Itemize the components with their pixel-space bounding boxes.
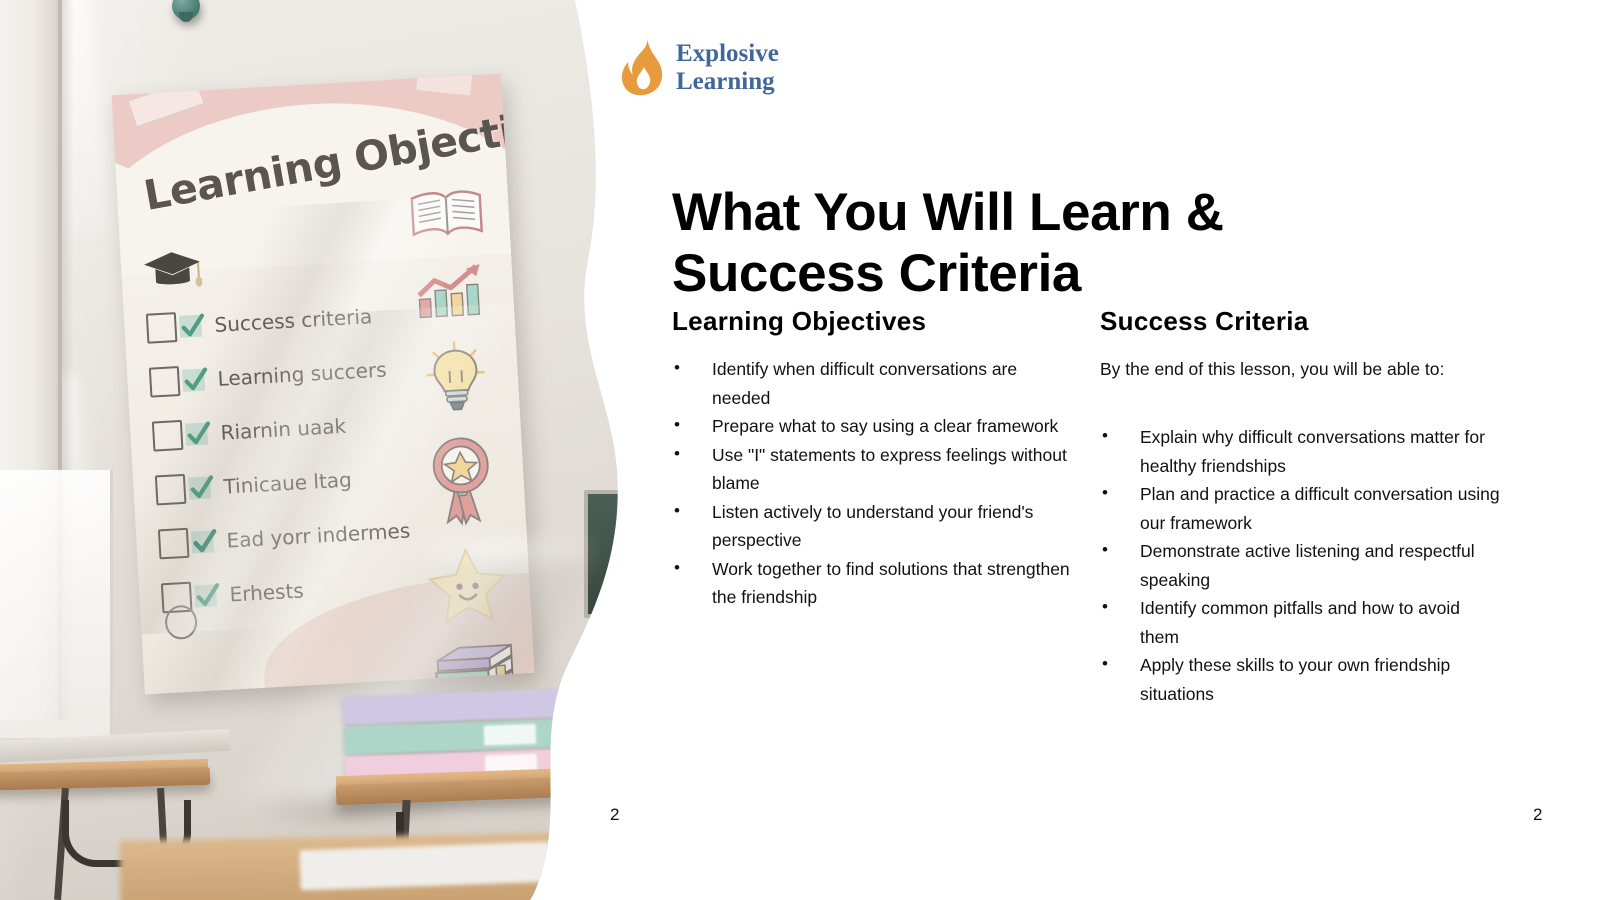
check-icon xyxy=(188,474,215,501)
list-item: Identify common pitfalls and how to avoi… xyxy=(1100,594,1500,651)
window-pane xyxy=(0,470,113,738)
list-item: Identify when difficult conversations ar… xyxy=(672,355,1072,412)
success-criteria-list: Explain why difficult conversations matt… xyxy=(1100,423,1500,708)
check-icon xyxy=(182,366,209,393)
checklist-label: Tinicaue ltag xyxy=(223,468,352,499)
list-item: Use "I" statements to express feelings w… xyxy=(672,441,1072,498)
checklist-label: Riarnin uaak xyxy=(220,414,347,445)
page-number-right: 2 xyxy=(1533,805,1542,825)
lightbulb-sticker xyxy=(414,338,504,420)
checklist-label: Learning succers xyxy=(217,357,387,390)
checklist-label: Success criteria xyxy=(214,304,373,337)
success-criteria-intro: By the end of this lesson, you will be a… xyxy=(1100,355,1500,383)
page-title: What You Will Learn & Success Criteria xyxy=(672,182,1432,305)
brand-name-line2: Learning xyxy=(676,68,779,96)
checkbox-icon xyxy=(146,312,178,344)
list-item: Apply these skills to your own friendshi… xyxy=(1100,651,1500,708)
list-item: Work together to find solutions that str… xyxy=(672,555,1072,612)
learning-objectives-heading: Learning Objectives xyxy=(672,306,1072,337)
checkbox-icon xyxy=(149,366,181,398)
checkbox-icon xyxy=(158,528,190,560)
open-book-sticker xyxy=(405,184,494,250)
learning-objectives-column: Learning Objectives Identify when diffic… xyxy=(672,306,1072,612)
brand-name-line1: Explosive xyxy=(676,40,779,67)
check-icon xyxy=(179,312,206,339)
brand-logo[interactable]: Explosive Learning xyxy=(620,34,779,101)
graduation-cap-icon xyxy=(142,249,202,292)
award-ribbon-sticker xyxy=(419,431,510,533)
growth-chart-sticker xyxy=(410,261,499,327)
checkbox-icon xyxy=(152,420,184,452)
page-number-left: 2 xyxy=(610,805,619,825)
learning-objectives-list: Identify when difficult conversations ar… xyxy=(672,355,1072,612)
flame-icon xyxy=(620,34,666,101)
checkbox-icon xyxy=(155,474,187,506)
classroom-photo: Learning Objectives Success criteria xyxy=(0,0,640,900)
check-icon xyxy=(185,420,212,447)
list-item: Prepare what to say using a clear framew… xyxy=(672,412,1072,441)
brand-name: Explosive Learning xyxy=(676,40,779,96)
slide: Learning Objectives Success criteria xyxy=(0,0,1600,900)
success-criteria-heading: Success Criteria xyxy=(1100,306,1500,337)
list-item: Explain why difficult conversations matt… xyxy=(1100,423,1500,480)
list-item: Listen actively to understand your frien… xyxy=(672,498,1072,555)
list-item: Plan and practice a difficult conversati… xyxy=(1100,480,1500,537)
list-item: Demonstrate active listening and respect… xyxy=(1100,537,1500,594)
success-criteria-column: Success Criteria By the end of this less… xyxy=(1100,306,1500,709)
